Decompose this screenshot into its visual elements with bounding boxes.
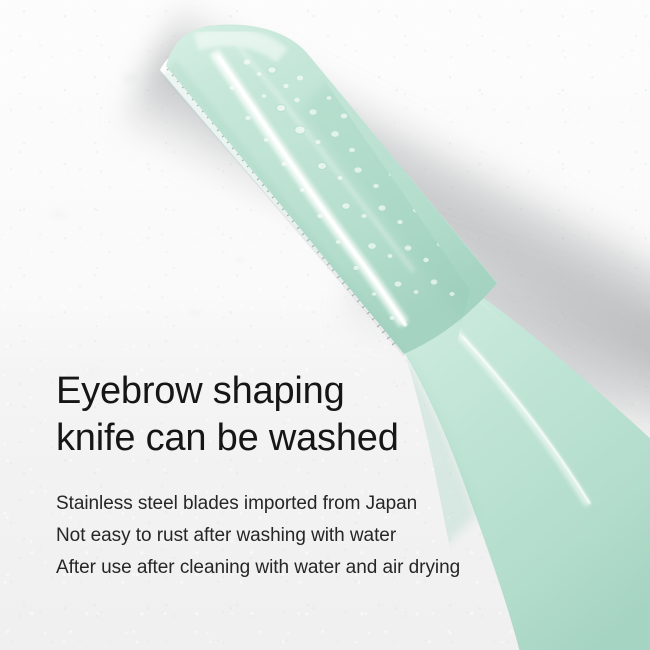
page-title: Eyebrow shaping knife can be washed xyxy=(56,368,616,462)
copy-block: Eyebrow shaping knife can be washed Stai… xyxy=(56,368,616,584)
product-banner: Eyebrow shaping knife can be washed Stai… xyxy=(0,0,650,650)
feature-list: Stainless steel blades imported from Jap… xyxy=(56,488,616,584)
list-item: Stainless steel blades imported from Jap… xyxy=(56,488,616,520)
list-item: Not easy to rust after washing with wate… xyxy=(56,520,616,552)
razor-head xyxy=(160,25,500,368)
list-item: After use after cleaning with water and … xyxy=(56,552,616,584)
